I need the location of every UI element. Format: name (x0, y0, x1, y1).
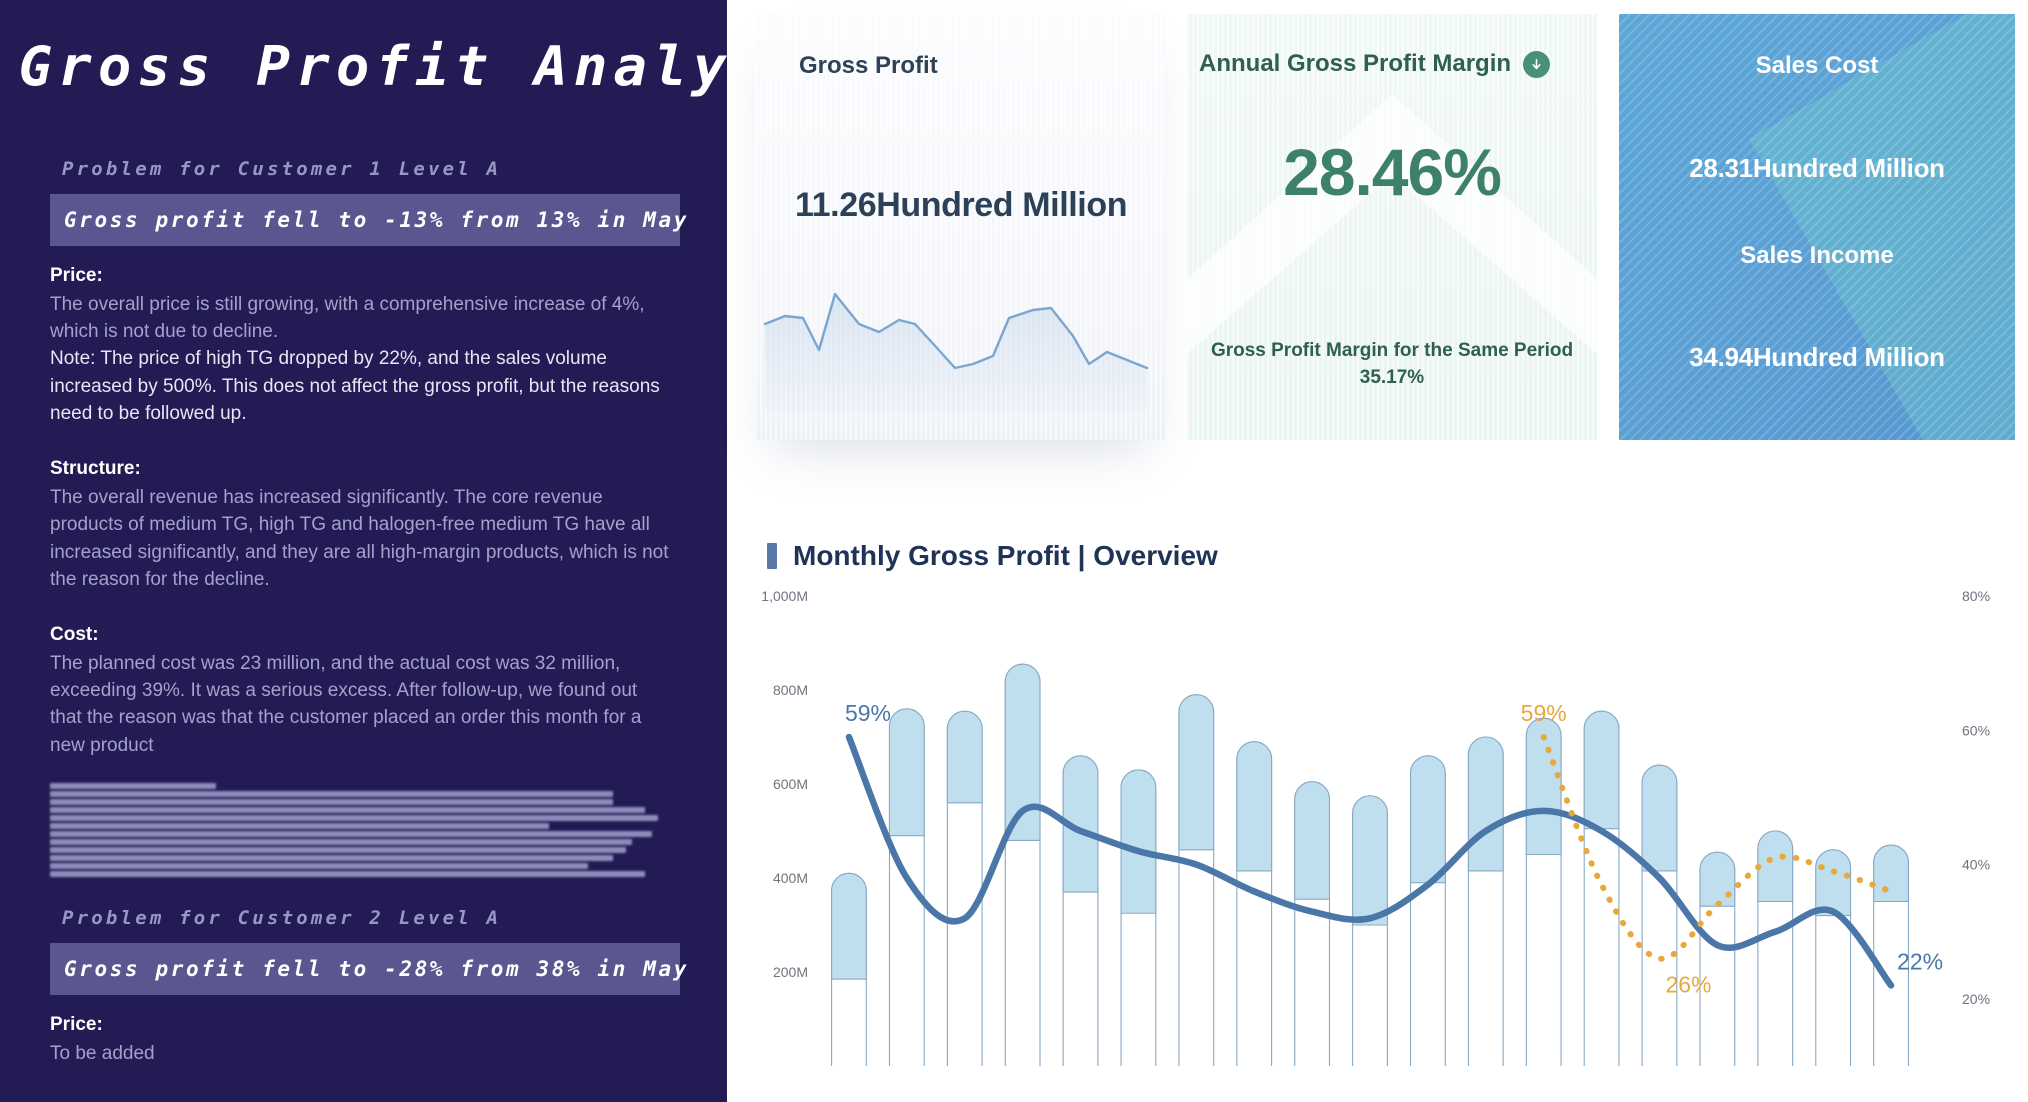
bar-fill-segment[interactable] (1237, 742, 1272, 871)
section-heading: Price: (50, 1011, 670, 1040)
kpi-sub-value: 35.17% (1360, 367, 1424, 388)
chart-title-row: Monthly Gross Profit | Overview (767, 540, 2028, 572)
bar-fill-segment[interactable] (1874, 845, 1909, 901)
section-price-2: Price: To be added (50, 1011, 670, 1067)
y-axis-tick-label: 800M (773, 682, 808, 698)
redacted-line (50, 863, 588, 869)
monthly-gross-profit-chart: Monthly Gross Profit | Overview 59%22%59… (755, 540, 2028, 1102)
bar-fill-segment[interactable] (889, 709, 924, 836)
y2-axis-tick-label: 60% (1962, 722, 1990, 738)
kpi-card-gross-profit[interactable]: Gross Profit 11.26Hundred Million (755, 14, 1165, 440)
problem-banner-customer-2: Gross profit fell to -28% from 38% in Ma… (50, 943, 680, 995)
y2-axis-tick-label: 80% (1962, 588, 1990, 604)
line-data-label: 59% (1521, 700, 1567, 726)
redacted-line (50, 831, 652, 837)
line-data-label: 22% (1897, 948, 1943, 974)
problem-banner-text-1: Gross profit fell to -13% from 13% in Ma… (50, 208, 689, 232)
redacted-line (50, 823, 549, 829)
section-structure-1: Structure: The overall revenue has incre… (50, 443, 670, 593)
line-data-label: 26% (1665, 972, 1711, 998)
kpi-title: Annual Gross Profit Margin (1199, 50, 1511, 78)
kpi-value: 28.46% (1187, 134, 1597, 210)
bar-fill-segment[interactable] (1295, 782, 1330, 900)
bar-fill-segment[interactable] (1353, 796, 1388, 925)
bar-fill-segment[interactable] (1700, 852, 1735, 906)
sales-cost-value: 28.31Hundred Million (1619, 153, 2015, 184)
redacted-line (50, 799, 613, 805)
bar-fill-segment[interactable] (1121, 770, 1156, 913)
chart-svg: 59%22%59%26%200M400M600M800M1,000M20%40%… (755, 588, 2027, 1096)
redacted-line (50, 783, 216, 789)
redacted-line (50, 839, 632, 845)
kpi-card-row: Gross Profit 11.26Hundred Million A (755, 14, 2015, 440)
sales-income-label: Sales Income (1619, 242, 2015, 270)
redacted-line (50, 807, 645, 813)
section-heading: Structure: (50, 455, 670, 484)
bar-fill-segment[interactable] (947, 711, 982, 803)
bar-fill-segment[interactable] (1642, 765, 1677, 871)
bar-fill-segment[interactable] (1816, 850, 1851, 916)
title-accent-bar (767, 543, 777, 569)
y-axis-tick-label: 200M (773, 964, 808, 980)
section-text-dim: The overall revenue has increased signif… (50, 484, 670, 593)
bar-fill-segment[interactable] (1179, 695, 1214, 850)
y-axis-tick-label: 1,000M (761, 588, 808, 604)
y2-axis-tick-label: 20% (1962, 991, 1990, 1007)
section-text-note: Note: The price of high TG dropped by 22… (50, 345, 670, 427)
redacted-line (50, 871, 645, 877)
sparkline-chart (755, 272, 1165, 412)
section-heading: Cost: (50, 621, 670, 650)
kpi-sub-label: Gross Profit Margin for the Same Period (1211, 340, 1573, 361)
y2-axis-tick-label: 40% (1962, 857, 1990, 873)
kpi-card-sales[interactable]: Sales Cost 28.31Hundred Million Sales In… (1619, 14, 2015, 440)
bar-fill-segment[interactable] (1411, 756, 1446, 883)
section-cost-1: Cost: The planned cost was 23 million, a… (50, 609, 670, 759)
bar-fill-segment[interactable] (1758, 831, 1793, 902)
redacted-line (50, 847, 626, 853)
redacted-line (50, 815, 658, 821)
section-price-1: Price: The overall price is still growin… (50, 262, 670, 427)
bar-fill-segment[interactable] (1468, 737, 1503, 871)
section-text-dim: The planned cost was 23 million, and the… (50, 650, 670, 759)
kpi-subtext: Gross Profit Margin for the Same Period … (1187, 337, 1597, 392)
kpi-card-annual-gross-profit-margin[interactable]: Annual Gross Profit Margin 28.46% Gross … (1187, 14, 1597, 440)
section-text-dim: To be added (50, 1040, 670, 1067)
section-heading: Price: (50, 262, 670, 291)
redacted-line (50, 791, 613, 797)
problem-label-customer-2: Problem for Customer 2 Level A (62, 907, 727, 929)
kpi-value: 11.26Hundred Million (795, 186, 1127, 225)
kpi-title-row: Annual Gross Profit Margin (1199, 50, 1550, 78)
y-axis-tick-label: 400M (773, 870, 808, 886)
sales-cost-label: Sales Cost (1619, 52, 2015, 80)
redacted-line (50, 855, 613, 861)
sales-income-value: 34.94Hundred Million (1619, 342, 2015, 373)
chevron-watermark (1187, 94, 1597, 354)
y-axis-tick-label: 600M (773, 776, 808, 792)
problem-label-customer-1: Problem for Customer 1 Level A (62, 158, 727, 180)
bar-fill-segment[interactable] (832, 873, 867, 979)
arrow-down-icon (1523, 51, 1550, 78)
bar-fill-segment[interactable] (1584, 711, 1619, 829)
dashboard-panel: Gross Profit 11.26Hundred Million A (727, 0, 2028, 1102)
kpi-title: Gross Profit (799, 52, 938, 80)
redacted-placeholder-lines (50, 783, 690, 877)
page-title: Gross Profit Analysis (0, 0, 727, 98)
problem-banner-text-2: Gross profit fell to -28% from 38% in Ma… (50, 957, 689, 981)
problem-banner-customer-1: Gross profit fell to -13% from 13% in Ma… (50, 194, 680, 246)
line-data-label: 59% (845, 700, 891, 726)
left-analysis-panel: Gross Profit Analysis Problem for Custom… (0, 0, 727, 1102)
chart-plot-area: 59%22%59%26%200M400M600M800M1,000M20%40%… (755, 588, 2027, 1096)
chart-title: Monthly Gross Profit | Overview (793, 540, 1218, 572)
section-text-dim: The overall price is still growing, with… (50, 291, 670, 346)
